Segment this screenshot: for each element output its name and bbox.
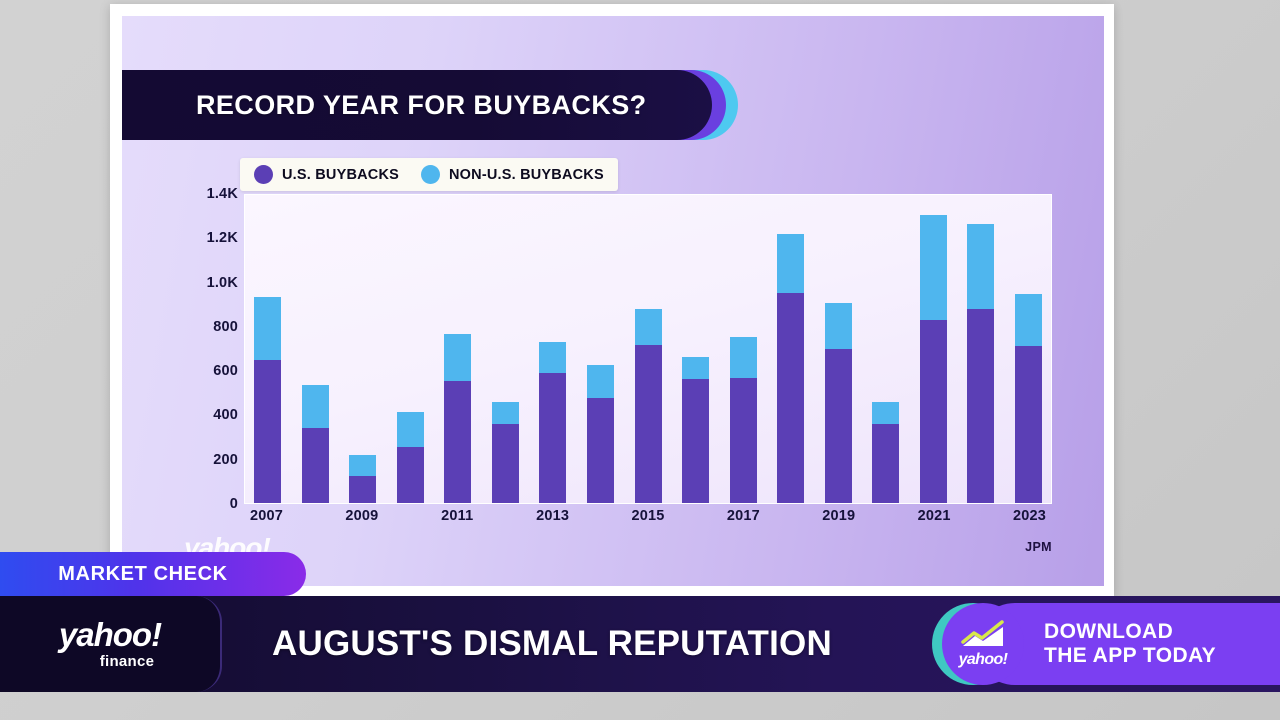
y-axis-tick-label: 600 bbox=[213, 363, 238, 379]
market-check-label: MARKET CHECK bbox=[58, 563, 227, 586]
x-axis: 200720092011201320152017201920212023 bbox=[244, 508, 1052, 532]
y-axis-tick-label: 1.2K bbox=[207, 230, 238, 246]
bar-segment-us bbox=[872, 424, 899, 503]
title-banner: RECORD YEAR FOR BUYBACKS? bbox=[122, 70, 740, 140]
bar-segment-non-us bbox=[587, 365, 614, 398]
cta-line-2: THE APP TODAY bbox=[1044, 644, 1216, 668]
bar-column bbox=[254, 195, 281, 503]
bar-segment-us bbox=[444, 381, 471, 503]
bar-segment-non-us bbox=[444, 334, 471, 382]
bar-segment-non-us bbox=[635, 309, 662, 344]
bar-column bbox=[635, 195, 662, 503]
chart-arrow-icon bbox=[960, 620, 1006, 648]
bar-segment-non-us bbox=[302, 385, 329, 428]
legend-item-non-us: NON-U.S. BUYBACKS bbox=[421, 165, 604, 184]
legend-label-non-us: NON-U.S. BUYBACKS bbox=[449, 167, 604, 183]
bar-segment-us bbox=[349, 476, 376, 503]
bar-column bbox=[492, 195, 519, 503]
bar-column bbox=[302, 195, 329, 503]
bar-column bbox=[825, 195, 852, 503]
legend-dot-icon bbox=[254, 165, 273, 184]
bar-column bbox=[872, 195, 899, 503]
bar-segment-us bbox=[730, 378, 757, 503]
bar-segment-us bbox=[587, 398, 614, 503]
y-axis-tick-label: 400 bbox=[213, 407, 238, 423]
bar-column bbox=[397, 195, 424, 503]
yahoo-logo-subword: finance bbox=[100, 653, 155, 670]
headline-text: AUGUST'S DISMAL REPUTATION bbox=[272, 596, 832, 692]
bar-column bbox=[539, 195, 566, 503]
bar-segment-non-us bbox=[349, 455, 376, 476]
bar-series-container bbox=[245, 195, 1051, 503]
bar-segment-us bbox=[254, 360, 281, 503]
legend-label-us: U.S. BUYBACKS bbox=[282, 167, 399, 183]
bar-segment-us bbox=[397, 447, 424, 503]
bar-segment-non-us bbox=[920, 215, 947, 320]
chart-title: RECORD YEAR FOR BUYBACKS? bbox=[196, 70, 647, 140]
bar-segment-us bbox=[539, 373, 566, 503]
cta-line-1: DOWNLOAD bbox=[1044, 620, 1216, 644]
bar-column bbox=[730, 195, 757, 503]
x-axis-tick-label: 2019 bbox=[822, 508, 855, 524]
cta-badge-word: yahoo! bbox=[959, 651, 1008, 669]
bar-segment-us bbox=[682, 379, 709, 503]
bar-segment-non-us bbox=[682, 357, 709, 379]
bar-segment-us bbox=[967, 309, 994, 503]
bar-column bbox=[349, 195, 376, 503]
market-check-badge: MARKET CHECK bbox=[0, 552, 306, 596]
bar-segment-non-us bbox=[967, 224, 994, 309]
bar-segment-us bbox=[825, 349, 852, 503]
bar-segment-us bbox=[920, 320, 947, 503]
bar-segment-us bbox=[777, 293, 804, 503]
y-axis-tick-label: 1.4K bbox=[207, 186, 238, 202]
y-axis-tick-label: 200 bbox=[213, 452, 238, 468]
bar-segment-non-us bbox=[872, 402, 899, 424]
bar-segment-non-us bbox=[397, 412, 424, 446]
slide-frame: RECORD YEAR FOR BUYBACKS? U.S. BUYBACKS … bbox=[110, 4, 1114, 596]
download-app-cta[interactable]: yahoo! DOWNLOAD THE APP TODAY bbox=[928, 601, 1280, 687]
bar-segment-us bbox=[1015, 346, 1042, 503]
bar-segment-non-us bbox=[1015, 294, 1042, 346]
bar-segment-non-us bbox=[539, 342, 566, 373]
y-axis-tick-label: 1.0K bbox=[207, 275, 238, 291]
bar-column bbox=[1015, 195, 1042, 503]
plot-area bbox=[244, 194, 1052, 504]
bar-column bbox=[920, 195, 947, 503]
y-axis-tick-label: 0 bbox=[230, 496, 238, 512]
x-axis-tick-label: 2023 bbox=[1013, 508, 1046, 524]
x-axis-tick-label: 2017 bbox=[727, 508, 760, 524]
x-axis-tick-label: 2011 bbox=[441, 508, 473, 524]
bar-column bbox=[967, 195, 994, 503]
bar-column bbox=[444, 195, 471, 503]
cta-text-block: DOWNLOAD THE APP TODAY bbox=[1044, 601, 1216, 687]
bar-segment-non-us bbox=[825, 303, 852, 350]
bar-segment-us bbox=[302, 428, 329, 503]
x-axis-tick-label: 2015 bbox=[631, 508, 664, 524]
x-axis-tick-label: 2007 bbox=[250, 508, 283, 524]
y-axis: 02004006008001.0K1.2K1.4K bbox=[182, 194, 238, 504]
bar-segment-us bbox=[635, 345, 662, 503]
bar-column bbox=[777, 195, 804, 503]
x-axis-tick-label: 2021 bbox=[918, 508, 951, 524]
bar-segment-us bbox=[492, 424, 519, 503]
legend-dot-icon bbox=[421, 165, 440, 184]
legend-item-us: U.S. BUYBACKS bbox=[254, 165, 399, 184]
chart-slide: RECORD YEAR FOR BUYBACKS? U.S. BUYBACKS … bbox=[122, 16, 1104, 586]
source-label: JPM bbox=[1025, 540, 1052, 554]
bar-segment-non-us bbox=[777, 234, 804, 293]
bar-segment-non-us bbox=[730, 337, 757, 378]
bar-column bbox=[682, 195, 709, 503]
x-axis-tick-label: 2009 bbox=[345, 508, 378, 524]
yahoo-logo-word: yahoo! bbox=[59, 618, 161, 651]
x-axis-tick-label: 2013 bbox=[536, 508, 569, 524]
yahoo-app-badge: yahoo! bbox=[942, 603, 1024, 685]
y-axis-tick-label: 800 bbox=[213, 319, 238, 335]
bar-column bbox=[587, 195, 614, 503]
bar-segment-non-us bbox=[492, 402, 519, 424]
chart-legend: U.S. BUYBACKS NON-U.S. BUYBACKS bbox=[240, 158, 618, 191]
yahoo-finance-logo: yahoo! finance bbox=[0, 596, 222, 692]
bar-segment-non-us bbox=[254, 297, 281, 360]
